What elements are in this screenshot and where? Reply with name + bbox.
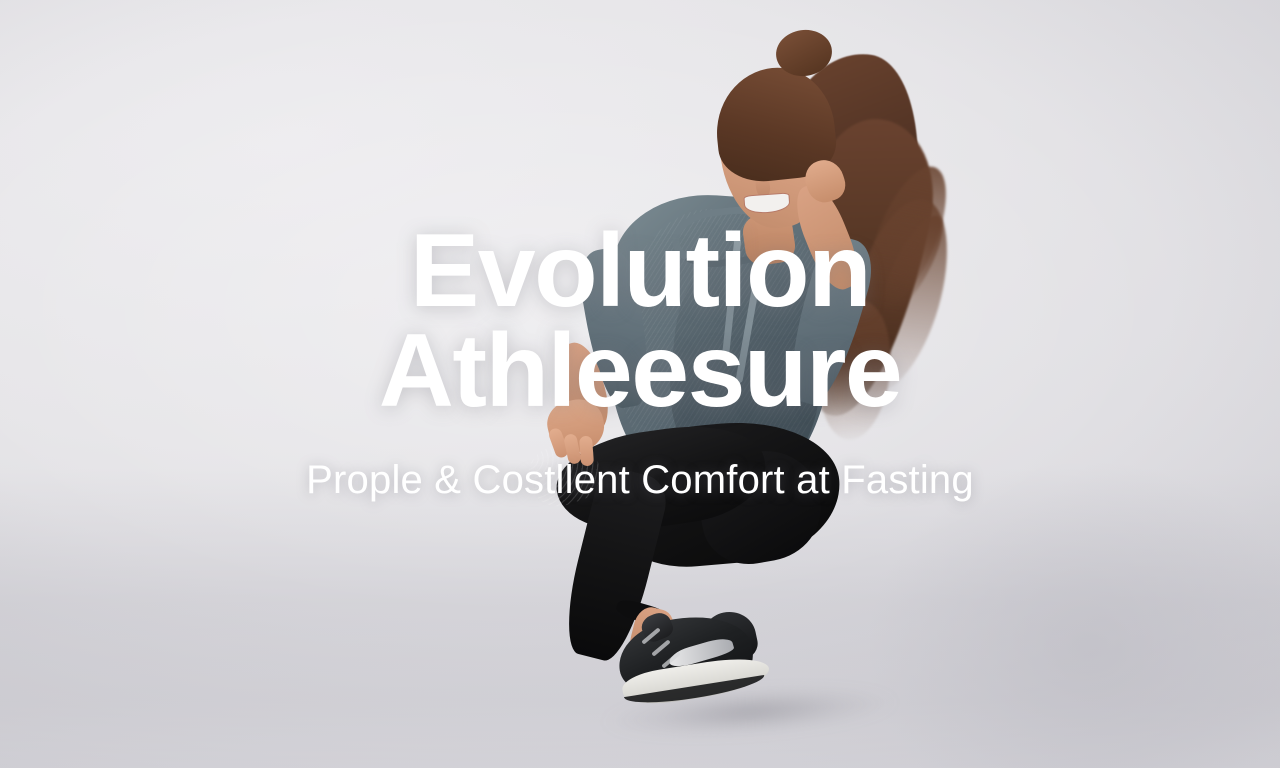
finger — [579, 436, 594, 467]
model-photo — [0, 0, 1280, 768]
hero-banner: Evolution Athleesure Prople & Costllent … — [0, 0, 1280, 768]
